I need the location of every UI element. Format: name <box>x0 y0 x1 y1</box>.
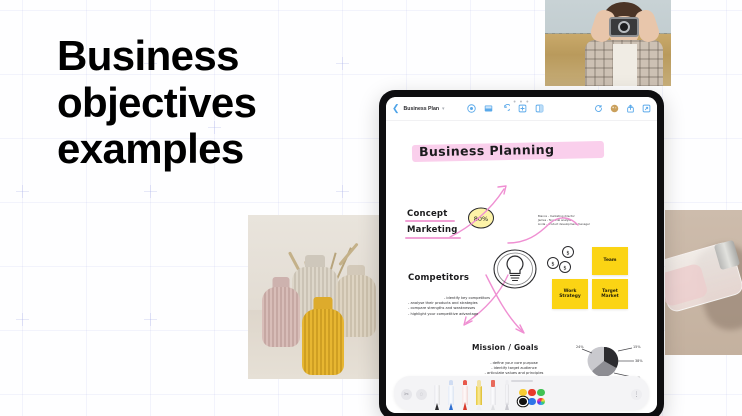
page-title: Business objectives examples <box>57 33 357 173</box>
whiteboard-canvas[interactable]: Business Planning Concept Marketing 80% … <box>386 121 657 413</box>
undo-icon[interactable] <box>501 104 510 113</box>
svg-text:$: $ <box>551 262 554 268</box>
refresh-icon[interactable] <box>594 104 603 113</box>
vase-pink <box>262 277 300 347</box>
pie-label: 24% <box>576 345 584 349</box>
pen-tray[interactable]: ✂ ◌ <box>394 376 649 410</box>
photo-bottle <box>665 210 742 355</box>
swatch-blue[interactable] <box>528 398 536 406</box>
pen-fineliner[interactable] <box>431 380 442 410</box>
tray-drag-handle[interactable] <box>511 380 533 382</box>
color-swatches[interactable] <box>519 389 545 406</box>
grid-plus-mark <box>336 185 349 198</box>
pen-blue-marker[interactable] <box>445 380 456 410</box>
chevron-left-icon[interactable]: ❮ <box>392 103 400 114</box>
svg-text:$: $ <box>566 251 569 257</box>
coin-icons: $ $ $ <box>544 245 580 279</box>
tablet-screen: • • • ❮ Business Plan ▾ <box>386 97 657 413</box>
vase-yellow <box>302 297 344 375</box>
pen-red-marker[interactable] <box>459 380 470 410</box>
pen-eraser-stick[interactable] <box>487 380 498 410</box>
tray-more-icon[interactable]: ⋮ <box>631 389 642 400</box>
page-title-line-1: Business <box>57 33 357 80</box>
toolbar-right-group <box>594 104 651 113</box>
swatch-red[interactable] <box>528 389 536 397</box>
expand-icon[interactable] <box>642 104 651 113</box>
app-toolbar: • • • ❮ Business Plan ▾ <box>386 97 657 121</box>
record-icon[interactable] <box>467 104 476 113</box>
photo-vases <box>248 215 382 379</box>
sticky-note-team[interactable]: Team <box>592 247 628 275</box>
lasso-icon[interactable]: ✂ <box>401 389 412 400</box>
swatch-yellow[interactable] <box>519 389 527 397</box>
tablet-device: • • • ❮ Business Plan ▾ <box>379 90 664 416</box>
svg-text:$: $ <box>563 266 566 272</box>
camera-lens <box>618 21 630 33</box>
sticky-note-work-strategy[interactable]: Work Strategy <box>552 279 588 309</box>
competitors-bullets: - identify key competitors - analyse the… <box>408 296 526 317</box>
heading-competitors: Competitors <box>408 273 469 283</box>
page-title-line-2: objectives <box>57 80 357 127</box>
palette-icon[interactable] <box>610 104 619 113</box>
lightbulb-icon <box>490 245 540 293</box>
eraser-icon[interactable]: ◌ <box>416 389 427 400</box>
screenshot-canvas: Business objectives examples <box>0 0 742 416</box>
swatch-black[interactable] <box>519 398 527 406</box>
image-icon[interactable] <box>484 104 493 113</box>
chevron-down-icon[interactable]: ▾ <box>442 106 445 112</box>
pen-pencil[interactable] <box>501 380 512 410</box>
subject-top <box>613 44 637 86</box>
pie-label: 15% <box>633 345 641 349</box>
toolbar-tools-group <box>467 104 544 113</box>
layers-icon[interactable] <box>535 104 544 113</box>
photo-subject <box>587 0 661 86</box>
bullet-item: - highlight your competitive advantage <box>408 312 526 317</box>
grid-plus-mark <box>16 185 29 198</box>
grid-plus-mark <box>144 313 157 326</box>
board-title: Business Planning <box>419 142 555 159</box>
grid-plus-mark <box>144 185 157 198</box>
pie-label: 38% <box>635 359 643 363</box>
drag-handle-dots[interactable]: • • • <box>513 99 529 106</box>
swatch-rainbow[interactable] <box>537 398 545 406</box>
swatch-green[interactable] <box>537 389 545 397</box>
photo-photographer <box>545 0 671 86</box>
grid-plus-mark <box>16 313 29 326</box>
document-title[interactable]: Business Plan <box>404 106 439 112</box>
sticky-note-target-market[interactable]: Target Market <box>592 279 628 309</box>
share-icon[interactable] <box>626 104 635 113</box>
heading-mission-goals: Mission / Goals <box>472 343 538 352</box>
page-title-line-3: examples <box>57 126 357 173</box>
label-concept: Concept <box>407 209 447 219</box>
pen-highlighter[interactable] <box>473 380 484 410</box>
